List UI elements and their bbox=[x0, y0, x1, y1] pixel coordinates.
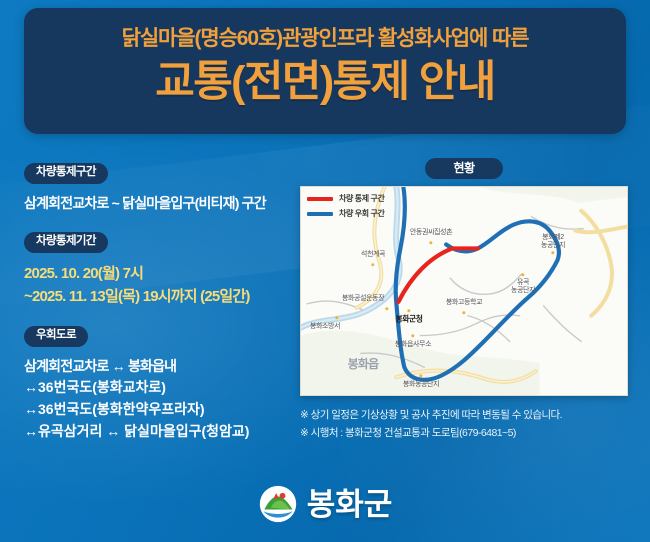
map-label: 봉화읍 bbox=[348, 358, 379, 372]
badge-control-zone: 차량통제구간 bbox=[24, 163, 108, 184]
legend-swatch-detour bbox=[307, 212, 333, 216]
control-period-body: 2025. 10. 20(월) 7시 ~2025. 11. 13일(목) 19시… bbox=[24, 262, 292, 309]
map-column: 현황 bbox=[300, 158, 628, 443]
map-label: 봉화농공단지 bbox=[403, 381, 439, 389]
header-title: 교통(전면)통제 안내 bbox=[24, 59, 626, 105]
map-label: 봉화제2농공단지 bbox=[541, 234, 565, 250]
map-label: 봉화소방서 bbox=[310, 323, 340, 331]
legend-label-control: 차량 통제 구간 bbox=[339, 193, 384, 204]
section-detour-road: 우회도로 삼계회전교차로 ↔ 봉화읍내 ↔36번국도(봉화교차로) ↔36번국도… bbox=[24, 325, 292, 442]
control-zone-body: 삼계회전교차로 ~ 닭실마을입구(비티재) 구간 bbox=[24, 193, 292, 215]
logo-text: 봉화군 bbox=[307, 489, 393, 520]
map-legend: 차량 통제 구간 차량 우회 구간 bbox=[307, 193, 384, 223]
badge-status: 현황 bbox=[425, 158, 502, 179]
footnotes: ※ 상기 일정은 기상상황 및 공사 추진에 따라 변동될 수 있습니다. ※ … bbox=[300, 406, 628, 443]
map-label: 안동권씨집성촌 bbox=[410, 229, 452, 237]
detour-road-body: 삼계회전교차로 ↔ 봉화읍내 ↔36번국도(봉화교차로) ↔36번국도(봉화한약… bbox=[24, 356, 292, 443]
control-period-line-end: ~2025. 11. 13일(목) 19시까지 (25일간) bbox=[24, 285, 292, 308]
legend-row-control: 차량 통제 구간 bbox=[307, 193, 384, 204]
control-period-line-start: 2025. 10. 20(월) 7시 bbox=[24, 262, 292, 285]
footnote-contact: ※ 시행처 : 봉화군청 건설교통과 도로팀(679-6481~5) bbox=[300, 424, 628, 442]
bonghwa-county-emblem-icon bbox=[258, 484, 298, 524]
footer-logo: 봉화군 bbox=[0, 484, 650, 524]
details-column: 차량통제구간 삼계회전교차로 ~ 닭실마을입구(비티재) 구간 차량통제기간 2… bbox=[24, 162, 292, 459]
detour-line-2: ↔36번국도(봉화교차로) bbox=[24, 377, 292, 399]
poster-header: 닭실마을(명승60호)관광인프라 활성화사업에 따른 교통(전면)통제 안내 bbox=[24, 8, 626, 134]
legend-swatch-control bbox=[307, 197, 333, 201]
header-subtitle: 닭실마을(명승60호)관광인프라 활성화사업에 따른 bbox=[24, 28, 626, 49]
map-label: 석천계곡 bbox=[361, 251, 385, 259]
detour-line-3: ↔36번국도(봉화한약우프라자) bbox=[24, 399, 292, 421]
status-badge-wrap: 현황 bbox=[300, 158, 628, 179]
legend-row-detour: 차량 우회 구간 bbox=[307, 208, 384, 219]
section-control-period: 차량통제기간 2025. 10. 20(월) 7시 ~2025. 11. 13일… bbox=[24, 231, 292, 308]
map-label: 봉화공설운동장 bbox=[342, 295, 384, 303]
legend-label-detour: 차량 우회 구간 bbox=[339, 208, 384, 219]
situation-map: 차량 통제 구간 차량 우회 구간 안동권씨집성촌석천계곡봉화제2농공단지유곡농… bbox=[300, 186, 628, 396]
badge-detour-road: 우회도로 bbox=[24, 326, 88, 347]
detour-line-4: ↔유곡삼거리 ↔ 닭실마을입구(청암교) bbox=[24, 421, 292, 443]
traffic-control-notice-poster: 닭실마을(명승60호)관광인프라 활성화사업에 따른 교통(전면)통제 안내 차… bbox=[0, 0, 650, 542]
map-label: 봉화읍사무소 bbox=[395, 341, 431, 349]
map-label: 봉화고등학교 bbox=[446, 299, 482, 307]
detour-line-1: 삼계회전교차로 ↔ 봉화읍내 bbox=[24, 356, 292, 378]
badge-control-period: 차량통제기간 bbox=[24, 232, 108, 253]
control-zone-line: 삼계회전교차로 ~ 닭실마을입구(비티재) 구간 bbox=[24, 193, 292, 215]
map-label: 봉화군청 bbox=[395, 316, 422, 325]
section-control-zone: 차량통제구간 삼계회전교차로 ~ 닭실마을입구(비티재) 구간 bbox=[24, 162, 292, 214]
footnote-schedule: ※ 상기 일정은 기상상황 및 공사 추진에 따라 변동될 수 있습니다. bbox=[300, 406, 628, 424]
map-label: 유곡농공단지 bbox=[511, 279, 535, 295]
